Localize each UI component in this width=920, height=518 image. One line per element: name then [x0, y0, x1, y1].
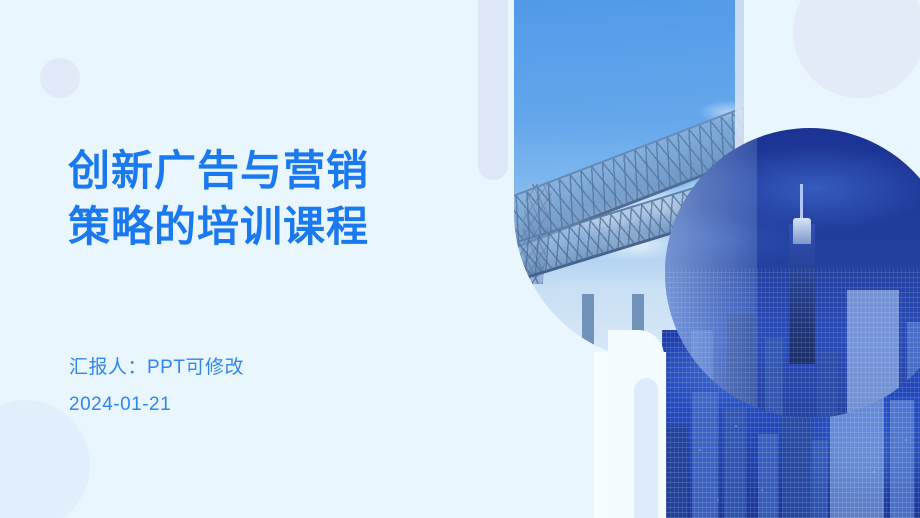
decorative-circle-bottom-left	[0, 400, 90, 518]
circle-light-wedge	[665, 128, 757, 418]
decorative-circle-top-left	[40, 58, 80, 98]
decorative-pill-left	[478, 0, 508, 180]
date-label: 2024-01-21	[69, 395, 244, 416]
decorative-circle-top-right	[793, 0, 920, 98]
cover-slide: 创新广告与营销 策略的培训课程 汇报人：PPT可修改 2024-01-21	[0, 0, 920, 518]
title-block: 创新广告与营销 策略的培训课程	[68, 143, 468, 255]
circle-city-photo	[665, 128, 920, 418]
subtitle-block: 汇报人：PPT可修改 2024-01-21	[69, 358, 244, 416]
decorative-pill-bottom	[634, 378, 658, 518]
presenter-label: 汇报人：PPT可修改	[69, 358, 244, 379]
page-title: 创新广告与营销 策略的培训课程	[68, 143, 468, 255]
